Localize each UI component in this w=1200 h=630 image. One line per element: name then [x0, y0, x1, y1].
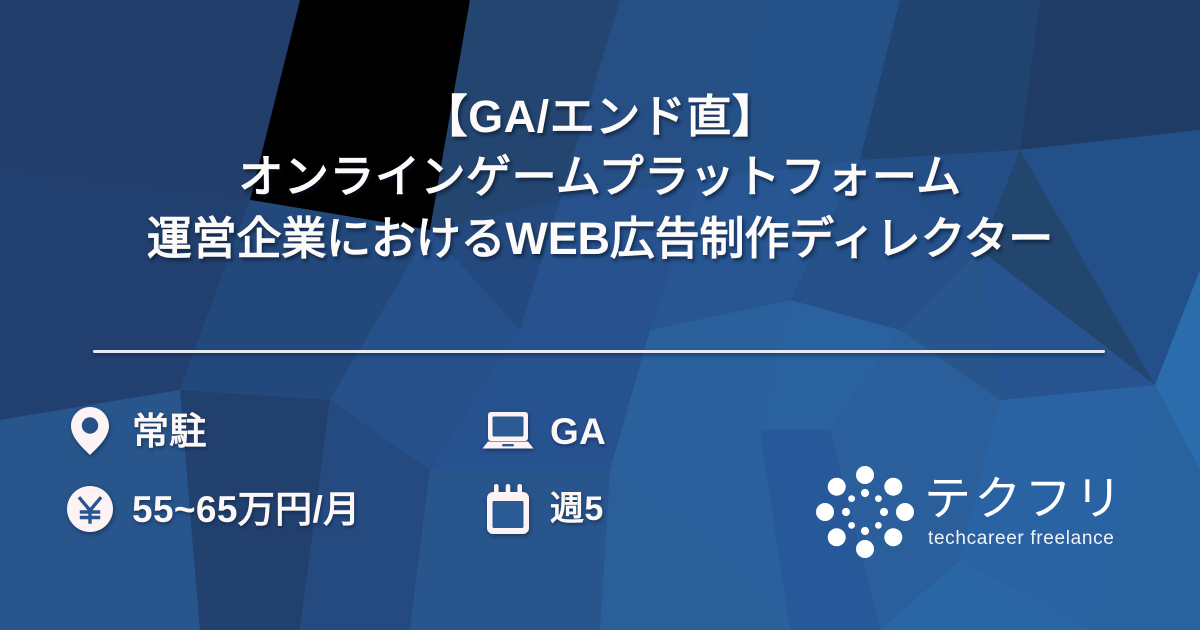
- logo-wordmark: テクフリ techcareer freelance: [924, 473, 1125, 551]
- title-line-1: 【GA/エンド直】: [0, 88, 1200, 146]
- title-line-2: オンラインゲームプラットフォーム: [0, 146, 1200, 208]
- detail-work-style: 常駐: [62, 406, 480, 456]
- detail-row: 55~65万円/月 週5: [62, 470, 762, 548]
- brand-logo: テクフリ techcareer freelance: [812, 462, 1142, 562]
- location-pin-icon: [62, 406, 118, 456]
- detail-row: 常駐 GA: [62, 392, 762, 470]
- logo-jp-name: テクフリ: [924, 473, 1125, 525]
- skill-label: GA: [550, 413, 606, 450]
- job-card: 【GA/エンド直】 オンラインゲームプラットフォーム 運営企業におけるWEB広告…: [0, 0, 1200, 630]
- calendar-icon: [480, 483, 536, 535]
- workdays-label: 週5: [550, 492, 604, 526]
- work-style-label: 常駐: [132, 413, 207, 450]
- job-details: 常駐 GA: [62, 392, 762, 548]
- logo-en-name: techcareer freelance: [928, 527, 1115, 551]
- divider: [93, 350, 1105, 353]
- dot-ring-icon: [812, 462, 918, 562]
- title-line-3: 運営企業におけるWEB広告制作ディレクター: [0, 208, 1200, 270]
- detail-workdays: 週5: [480, 483, 760, 535]
- laptop-icon: [480, 410, 536, 452]
- page-title: 【GA/エンド直】 オンラインゲームプラットフォーム 運営企業におけるWEB広告…: [0, 88, 1200, 270]
- yen-circle-icon: [62, 485, 118, 533]
- rate-label: 55~65万円/月: [132, 491, 361, 528]
- detail-rate: 55~65万円/月: [62, 485, 480, 533]
- detail-skill: GA: [480, 410, 760, 452]
